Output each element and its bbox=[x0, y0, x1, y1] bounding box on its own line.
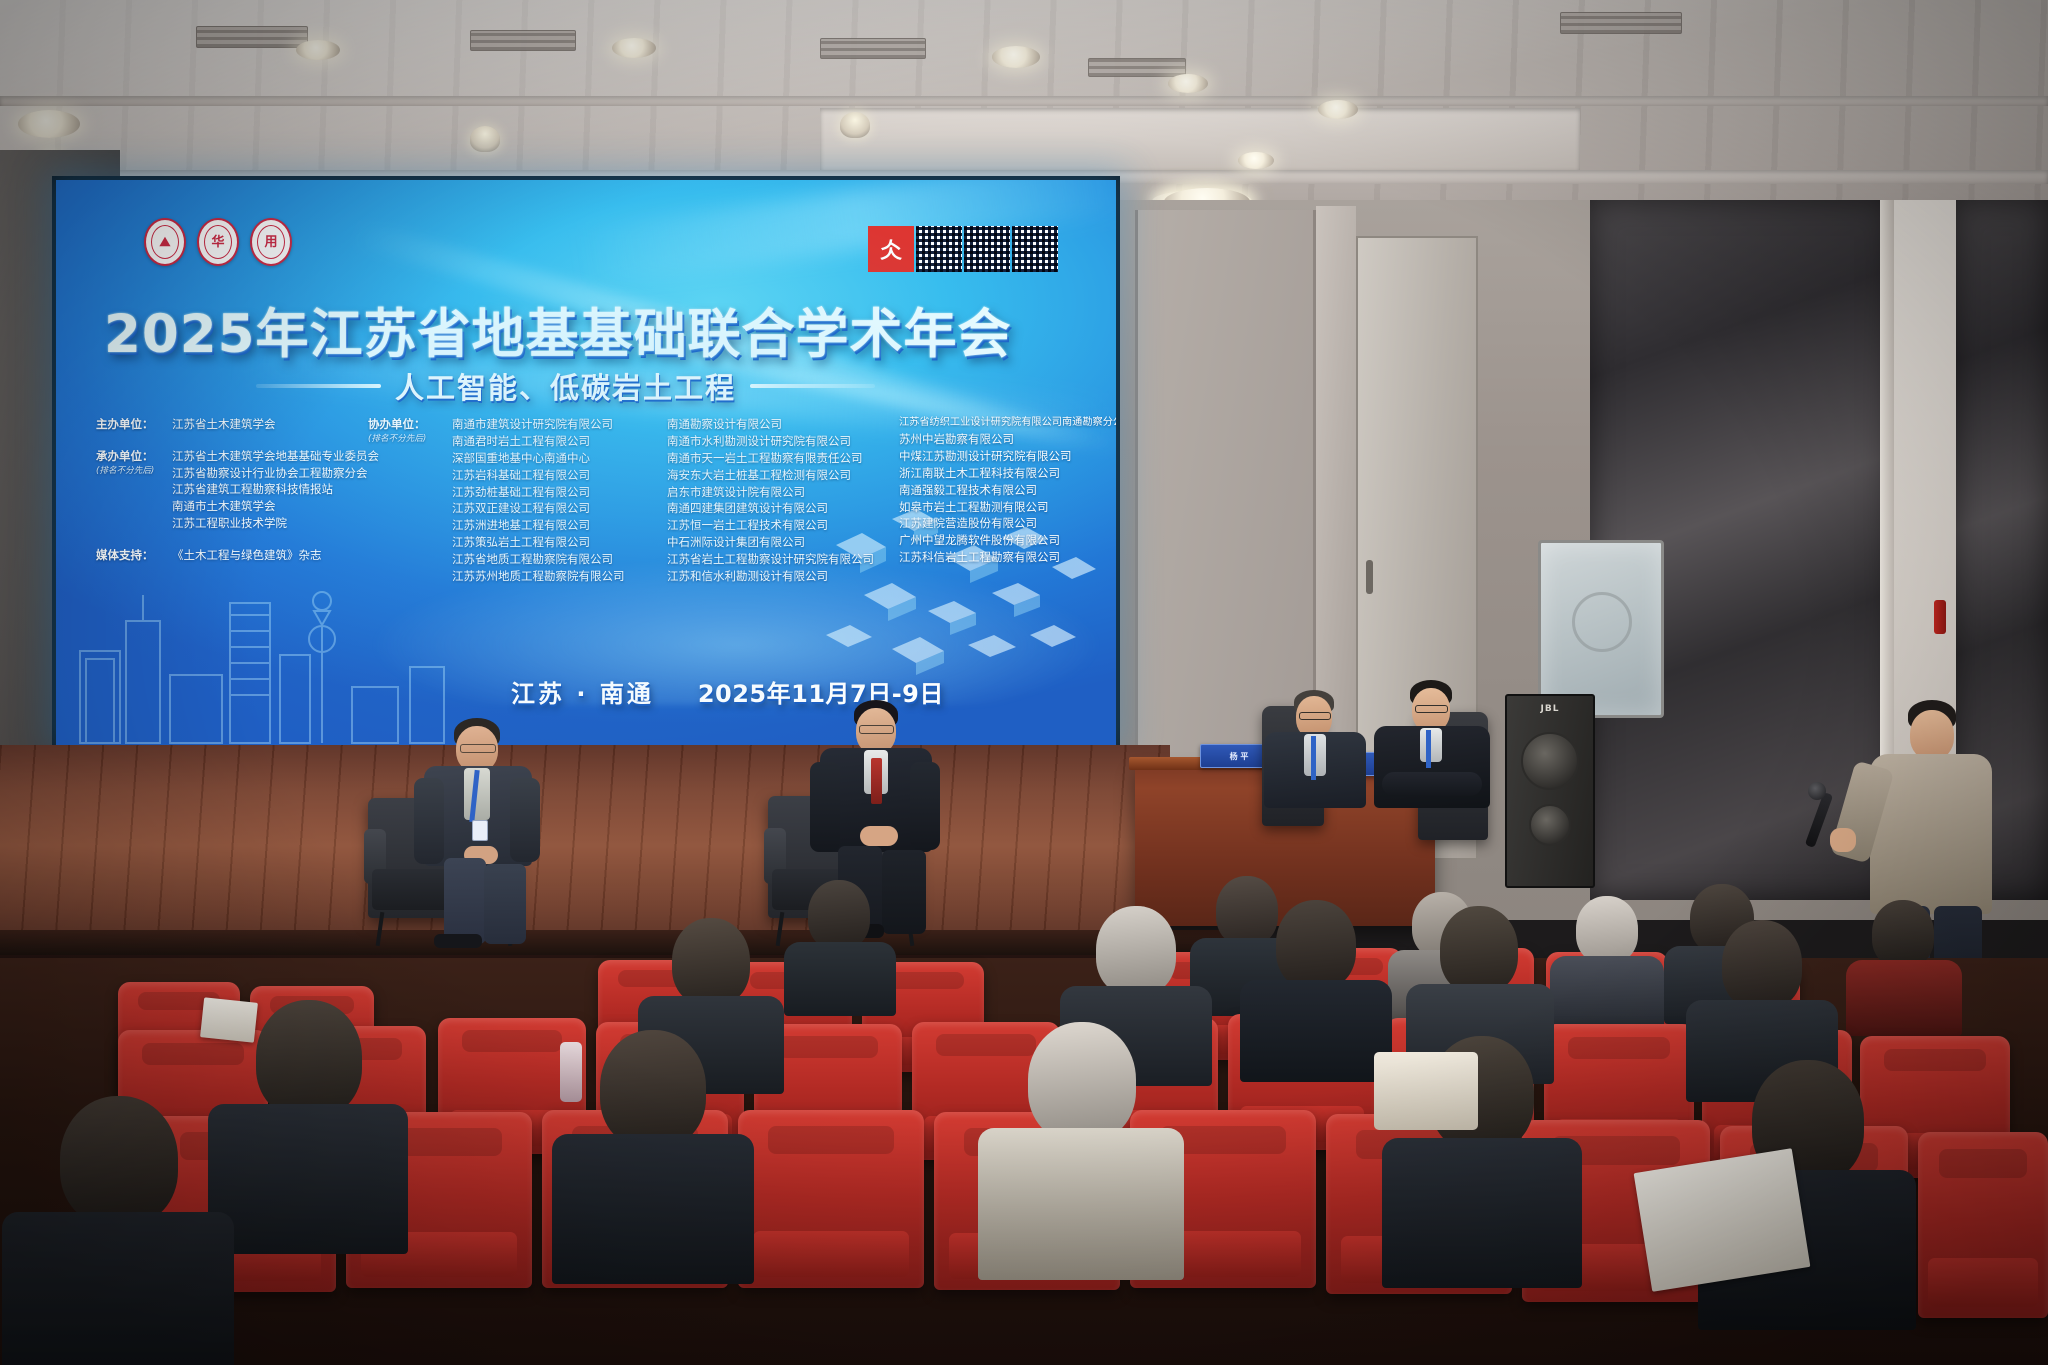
panelist-right-arm-left bbox=[810, 762, 840, 852]
coorganizer-item: 浙江南联土木工程科技有限公司 bbox=[899, 465, 1116, 482]
host-row: 主办单位： 江苏省土木建筑学会 bbox=[96, 416, 368, 433]
panelist-right-tie bbox=[871, 758, 882, 804]
audience-seat bbox=[738, 1110, 924, 1288]
university-logo-1-glyph: ⛰ bbox=[151, 225, 179, 259]
university-logo-2-glyph: 华 bbox=[204, 225, 232, 259]
audience-shoulders bbox=[1240, 980, 1392, 1082]
audience-shoulders bbox=[2, 1212, 234, 1365]
coorganizer-item: 江苏岩科基础工程有限公司 bbox=[452, 467, 667, 484]
head-table-panelist-2-lanyard bbox=[1426, 730, 1431, 768]
standing-speaker-head bbox=[1910, 710, 1954, 760]
qr-code-1-icon[interactable] bbox=[916, 226, 962, 272]
head-table-panelist-1-glasses bbox=[1299, 712, 1331, 720]
audience-head bbox=[1872, 900, 1934, 968]
panelist-left-shoe bbox=[434, 934, 482, 948]
audience-shoulders bbox=[1846, 960, 1962, 1036]
coorganizer-item: 江苏双正建设工程有限公司 bbox=[452, 500, 667, 517]
ceiling-vent-4 bbox=[1088, 58, 1186, 77]
panelist-right-arm-right bbox=[910, 762, 940, 850]
door-handle[interactable] bbox=[1366, 560, 1373, 594]
coorganizer-item: 南通勘察设计有限公司 bbox=[667, 416, 899, 433]
coorganizer-item: 江苏和信水利勘测设计有限公司 bbox=[667, 568, 899, 585]
audience-shoulders bbox=[1382, 1138, 1582, 1288]
coorganizer-item: 中煤江苏勘测设计研究院有限公司 bbox=[899, 448, 1116, 465]
panelist-right-hands bbox=[860, 826, 898, 846]
panelist-right-glasses bbox=[859, 725, 894, 734]
head-table-panelist-2-glasses bbox=[1415, 705, 1448, 713]
panelist-left-leg-1 bbox=[444, 858, 486, 944]
audience-seat bbox=[1918, 1132, 2048, 1318]
ceiling-downlight-3 bbox=[612, 38, 656, 58]
printed-handout-secondary[interactable] bbox=[200, 997, 258, 1042]
audience-head bbox=[808, 880, 870, 950]
coorganizer-item: 南通市水利勘测设计研究院有限公司 bbox=[667, 433, 899, 450]
fire-alarm-strip bbox=[1934, 600, 1946, 634]
audience-head bbox=[1576, 896, 1638, 964]
panelist-left-badge bbox=[472, 820, 488, 841]
subtitle-rule-left bbox=[256, 384, 381, 388]
qr-code-2-icon[interactable] bbox=[964, 226, 1010, 272]
undertaker-item: 南通市土木建筑学会 bbox=[172, 498, 379, 515]
organizer-column-left: 主办单位： 江苏省土木建筑学会 承办单位： (排名不分先后) 江苏省土木建筑学会… bbox=[96, 416, 368, 585]
media-value: 《土木工程与绿色建筑》杂志 bbox=[172, 547, 322, 564]
coorganizer-item: 江苏洲进地基工程有限公司 bbox=[452, 517, 667, 534]
subtitle-rule-right bbox=[750, 384, 875, 388]
coorganizer-item: 海安东大岩土桩基工程检测有限公司 bbox=[667, 467, 899, 484]
stage-floor bbox=[0, 745, 1170, 955]
media-row: 媒体支持： 《土木工程与绿色建筑》杂志 bbox=[96, 547, 368, 564]
coorganizer-list-3: 江苏省纺织工业设计研究院有限公司南通勘察分公司 苏州中岩勘察有限公司 中煤江苏勘… bbox=[899, 416, 1116, 585]
coorganizer-item: 江苏科信岩土工程勘察有限公司 bbox=[899, 549, 1116, 566]
coorganizer-item: 江苏省地质工程勘察院有限公司 bbox=[452, 551, 667, 568]
speaker-woofer-icon bbox=[1521, 732, 1579, 790]
ceiling-downlight-7 bbox=[1318, 100, 1358, 119]
undertaker-item: 江苏省建筑工程勘察科技情报站 bbox=[172, 481, 379, 498]
organization-logos: ⛰ 华 用 bbox=[144, 218, 292, 266]
undertaker-item: 江苏省土木建筑学会地基基础专业委员会 bbox=[172, 448, 379, 465]
media-label: 媒体支持： bbox=[96, 547, 172, 563]
audience-head bbox=[672, 918, 750, 1006]
event-location: 江苏 · 南通 bbox=[511, 674, 654, 709]
audience-head bbox=[1028, 1022, 1136, 1142]
jbl-speaker-label: JBL bbox=[1541, 704, 1560, 714]
coorganizer-item: 南通强毅工程技术有限公司 bbox=[899, 482, 1116, 499]
host-label: 主办单位： bbox=[96, 416, 172, 432]
ceiling-downlight-6 bbox=[1238, 152, 1274, 169]
tote-bag[interactable] bbox=[1374, 1052, 1478, 1130]
panelist-right-leg-2 bbox=[882, 850, 926, 934]
screen-subtitle-row: 人工智能、低碳岩土工程 bbox=[256, 365, 875, 407]
coorganizer-item: 广州中望龙腾软件股份有限公司 bbox=[899, 532, 1116, 549]
coorganizer-note: (排名不分先后) bbox=[368, 432, 444, 444]
ceiling-vent-1 bbox=[196, 26, 308, 48]
ceiling-downlight-1 bbox=[18, 110, 80, 138]
undertaker-row: 承办单位： (排名不分先后) 江苏省土木建筑学会地基基础专业委员会 江苏省勘察设… bbox=[96, 448, 368, 532]
audience-shoulders bbox=[978, 1128, 1184, 1280]
audience-shoulders bbox=[784, 942, 896, 1016]
ceiling-vent-5 bbox=[1560, 12, 1682, 34]
audience-head bbox=[600, 1030, 706, 1148]
ceiling-downlight-4 bbox=[992, 46, 1040, 68]
speaker-tweeter-icon bbox=[1529, 804, 1571, 846]
coorganizer-item: 南通四建集团建筑设计有限公司 bbox=[667, 500, 899, 517]
undertaker-item: 江苏省勘察设计行业协会工程勘察分会 bbox=[172, 465, 379, 482]
panelist-left-leg-2 bbox=[484, 864, 526, 944]
head-table-panelist-1-lanyard bbox=[1311, 736, 1316, 780]
head-table-panelist-2-shirt bbox=[1420, 728, 1442, 762]
coorganizer-item: 江苏恒一岩土工程技术有限公司 bbox=[667, 517, 899, 534]
coorganizer-item: 如皋市岩土工程勘测有限公司 bbox=[899, 499, 1116, 516]
audience-head bbox=[60, 1096, 178, 1226]
coorganizer-item: 南通市天一岩土工程勘察有限责任公司 bbox=[667, 450, 899, 467]
ceiling-downlight-2 bbox=[296, 40, 340, 60]
coorganizer-item: 中石洲际设计集团有限公司 bbox=[667, 534, 899, 551]
coorganizer-list-2: 南通勘察设计有限公司 南通市水利勘测设计研究院有限公司 南通市天一岩土工程勘察有… bbox=[667, 416, 899, 585]
audience-head bbox=[1276, 900, 1356, 990]
audience-head bbox=[1722, 920, 1802, 1010]
standing-speaker-hand bbox=[1830, 828, 1856, 852]
head-table-panelist-2-arms-crossed bbox=[1382, 772, 1482, 796]
coorganizer-item: 深部国重地基中心南通中心 bbox=[452, 450, 667, 467]
printed-program-handout[interactable] bbox=[1634, 1148, 1811, 1292]
head-table-panelist-1 bbox=[1262, 690, 1372, 810]
audience-head bbox=[256, 1000, 362, 1118]
audience-shoulders bbox=[1550, 956, 1664, 1030]
organizer-block: 主办单位： 江苏省土木建筑学会 承办单位： (排名不分先后) 江苏省土木建筑学会… bbox=[96, 416, 1096, 585]
coorganizer-item: 江苏省岩土工程勘察设计研究院有限公司 bbox=[667, 551, 899, 568]
panelist-left bbox=[410, 718, 560, 948]
coorganizer-item: 苏州中岩勘察有限公司 bbox=[899, 431, 1116, 448]
undertaker-note: (排名不分先后) bbox=[96, 464, 172, 476]
led-presentation-screen: ⛰ 华 用 仌 2025年江苏省地基基础联合学术年会 人工智能、低碳岩土工程 bbox=[56, 180, 1116, 745]
coorganizer-item: 江苏劲桩基础工程有限公司 bbox=[452, 484, 667, 501]
microphone-head-icon bbox=[1808, 782, 1826, 800]
coorganizer-item: 江苏省纺织工业设计研究院有限公司南通勘察分公司 bbox=[899, 416, 1116, 431]
window-reflection-circle bbox=[1572, 592, 1632, 652]
audience-head bbox=[1440, 906, 1518, 994]
ceiling-step-1 bbox=[0, 96, 2048, 106]
university-logo-1-icon: ⛰ bbox=[144, 218, 186, 266]
coorganizer-list-1: 南通市建筑设计研究院有限公司 南通君时岩土工程有限公司 深部国重地基中心南通中心… bbox=[452, 416, 667, 585]
audience-head bbox=[1096, 906, 1176, 996]
ceiling-vent-3 bbox=[820, 38, 926, 59]
host-value: 江苏省土木建筑学会 bbox=[172, 416, 276, 433]
panelist-left-arm-right bbox=[510, 778, 540, 862]
stage-spotlight-3 bbox=[840, 112, 870, 138]
ceiling-step-3 bbox=[820, 108, 1580, 170]
university-logo-3-icon: 用 bbox=[250, 218, 292, 266]
audience-shoulders bbox=[552, 1134, 754, 1284]
coorganizer-label: 协办单位： bbox=[368, 416, 444, 432]
coorganizer-item: 江苏策弘岩土工程有限公司 bbox=[452, 534, 667, 551]
university-logo-2-icon: 华 bbox=[197, 218, 239, 266]
qr-code-3-icon[interactable] bbox=[1012, 226, 1058, 272]
coorganizer-item: 启东市建筑设计院有限公司 bbox=[667, 484, 899, 501]
head-table-panelist-2 bbox=[1374, 680, 1494, 810]
society-badge-icon: 仌 bbox=[868, 226, 914, 272]
stage-spotlight-2 bbox=[470, 126, 500, 152]
coorganizer-item: 南通君时岩土工程有限公司 bbox=[452, 433, 667, 450]
jbl-speaker-cabinet: JBL bbox=[1505, 694, 1595, 888]
coorganizer-item: 江苏建院营造股份有限公司 bbox=[899, 515, 1116, 532]
coorganizer-item: 南通市建筑设计研究院有限公司 bbox=[452, 416, 667, 433]
university-logo-3-glyph: 用 bbox=[257, 225, 285, 259]
undertaker-item: 江苏工程职业技术学院 bbox=[172, 515, 379, 532]
stage-edge bbox=[0, 930, 1230, 958]
conference-hall-photo: ⛰ 华 用 仌 2025年江苏省地基基础联合学术年会 人工智能、低碳岩土工程 bbox=[0, 0, 2048, 1365]
coorganizer-item: 江苏苏州地质工程勘察院有限公司 bbox=[452, 568, 667, 585]
screen-subtitle: 人工智能、低碳岩土工程 bbox=[395, 365, 736, 407]
ceiling-vent-2 bbox=[470, 30, 576, 51]
panelist-left-glasses bbox=[460, 744, 496, 753]
audience-head bbox=[1216, 876, 1278, 946]
screen-main-title: 2025年江苏省地基基础联合学术年会 bbox=[104, 292, 1012, 368]
ceiling-downlight-8 bbox=[1168, 74, 1208, 93]
undertaker-list: 江苏省土木建筑学会地基基础专业委员会 江苏省勘察设计行业协会工程勘察分会 江苏省… bbox=[172, 448, 379, 532]
qr-code-row: 仌 bbox=[868, 226, 1058, 272]
undertaker-label: 承办单位： bbox=[96, 448, 172, 464]
water-bottle[interactable] bbox=[560, 1042, 582, 1102]
panelist-left-arm-left bbox=[414, 778, 444, 864]
audience-shoulders bbox=[208, 1104, 408, 1254]
